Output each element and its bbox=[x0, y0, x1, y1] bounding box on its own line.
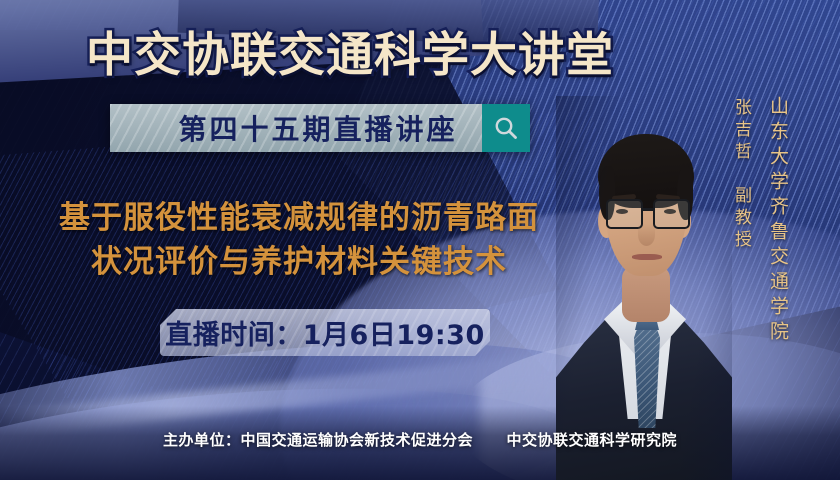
speaker-name-title: 张吉哲 副教授 bbox=[729, 98, 754, 252]
lecture-title-line-2: 状况评价与养护材料关键技术 bbox=[24, 240, 574, 284]
broadcast-time-label: 直播时间：1月6日19:30 bbox=[165, 313, 485, 352]
episode-banner: 第四十五期直播讲座 bbox=[110, 104, 530, 152]
broadcast-time-badge: 直播时间：1月6日19:30 bbox=[160, 309, 490, 356]
speaker-portrait bbox=[556, 96, 732, 480]
lecture-title: 基于服役性能衰减规律的沥青路面 状况评价与养护材料关键技术 bbox=[24, 196, 574, 284]
search-button[interactable] bbox=[482, 104, 530, 152]
footer-organizer-secondary: 中交协联交通科学研究院 bbox=[506, 431, 677, 449]
page-title: 中交协联交通科学大讲堂 bbox=[0, 16, 700, 85]
episode-label: 第四十五期直播讲座 bbox=[134, 108, 457, 148]
search-icon bbox=[493, 115, 519, 141]
webinar-poster: 中交协联交通科学大讲堂 第四十五期直播讲座 基于服役性能衰减规律的沥青路面 状况… bbox=[0, 0, 840, 480]
footer-organizers: 主办单位：中国交通运输协会新技术促进分会 中交协联交通科学研究院 bbox=[0, 429, 840, 450]
footer-organizer-primary: 主办单位：中国交通运输协会新技术促进分会 bbox=[163, 431, 473, 449]
speaker-organization: 山东大学齐鲁交通学院 bbox=[765, 96, 792, 346]
portrait-lighting-overlay bbox=[556, 96, 732, 480]
episode-banner-fill: 第四十五期直播讲座 bbox=[110, 104, 482, 152]
lecture-title-line-1: 基于服役性能衰减规律的沥青路面 bbox=[24, 196, 574, 240]
